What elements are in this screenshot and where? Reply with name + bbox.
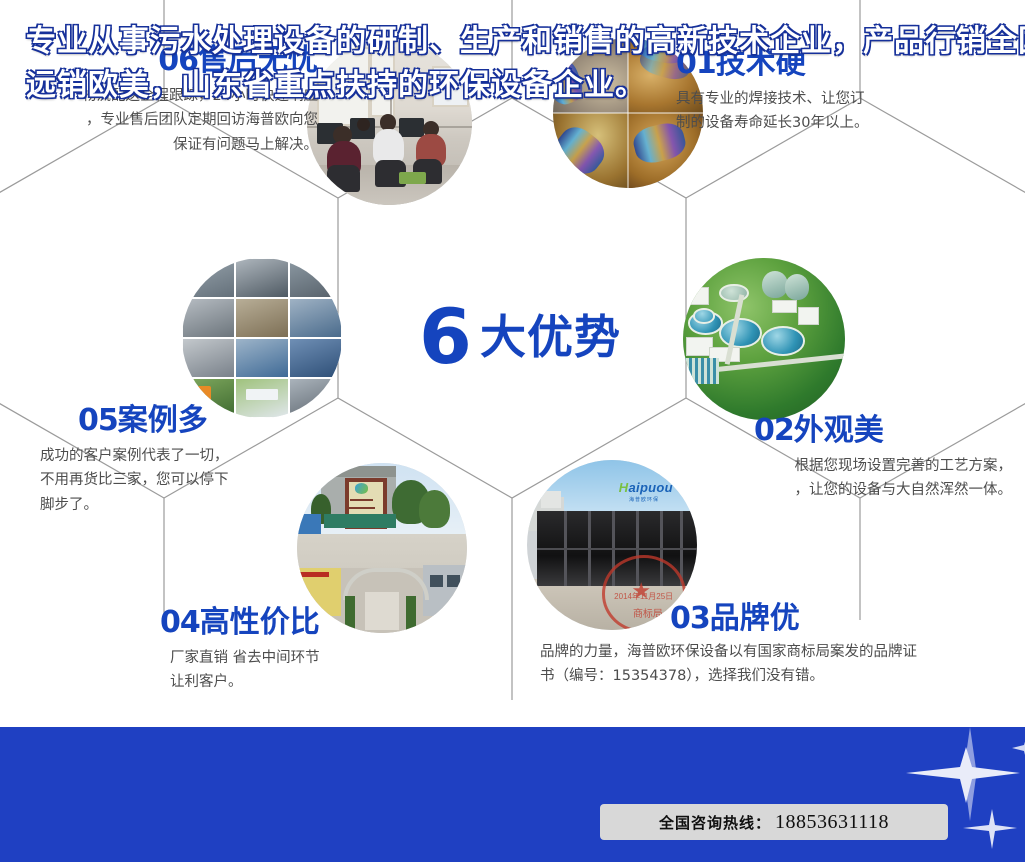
feature-02-title: 02外观美 — [692, 415, 1012, 447]
feature-03-desc: 品牌的力量，海普欧环保设备以有国家商标局案发的品牌证 书（编号：15354378… — [540, 640, 1020, 690]
feature-04-desc-line-2: 让利客户。 — [170, 670, 460, 695]
feature-03-label: 品牌优 — [710, 602, 800, 635]
feature-05-desc-line-1: 成功的客户案例代表了一切， — [40, 444, 310, 469]
center-number: 6 — [419, 299, 471, 375]
infographic-root: Haipuou 海普欧环保 ★ 2014年11月25日 商标局 6 大优势 06… — [0, 0, 1025, 862]
bottom-banner — [0, 727, 1025, 862]
feature-02: 02外观美 根据您现场设置完善的工艺方案， ，让您的设备与大自然浑然一体。 — [692, 415, 1012, 503]
feature-02-desc-line-1: 根据您现场设置完善的工艺方案， — [692, 454, 1012, 479]
feature-01-desc-line-2: 制的设备寿命延长30年以上。 — [676, 111, 1006, 136]
feature-03-title: 03品牌优 — [540, 603, 1020, 635]
feature-03-desc-line-1: 品牌的力量，海普欧环保设备以有国家商标局案发的品牌证 — [540, 640, 1020, 665]
product-brand-logo: Haipuou — [619, 480, 673, 495]
feature-06-desc-line-2: ，专业售后团队定期回访海普欧向您 — [18, 108, 318, 133]
stamp-date: 2014年11月25日 — [614, 591, 673, 602]
feature-04-title: 04高性价比 — [160, 607, 460, 639]
banner-slogan-line-1: 专业从事污水处理设备的研制、生产和销售的高新技术企业，产品行销全国并 — [26, 20, 726, 64]
hotline-number: 18853631118 — [775, 811, 889, 834]
feature-03: 03品牌优 品牌的力量，海普欧环保设备以有国家商标局案发的品牌证 书（编号：15… — [540, 603, 1020, 689]
feature-03-desc-line-2: 书（编号：15354378），选择我们没有错。 — [540, 664, 1020, 689]
hotline-box[interactable]: 全国咨询热线： 18853631118 — [600, 804, 948, 840]
brand-name: aipuou — [629, 480, 673, 495]
aerial-treatment-plant-photo — [683, 258, 845, 420]
feature-04-desc-line-1: 厂家直销 省去中间环节 — [170, 646, 460, 671]
banner-slogan-line-2: 远销欧美，山东省重点扶持的环保设备企业。 — [26, 64, 726, 108]
case-collage-photo — [182, 258, 342, 418]
feature-02-desc-line-2: ，让您的设备与大自然浑然一体。 — [692, 478, 1012, 503]
feature-05-label: 案例多 — [118, 404, 208, 437]
feature-05-desc-line-3: 脚步了。 — [40, 493, 310, 518]
hotline-label: 全国咨询热线： — [659, 812, 771, 833]
feature-02-desc: 根据您现场设置完善的工艺方案， ，让您的设备与大自然浑然一体。 — [692, 454, 1012, 504]
center-title: 6 大优势 — [390, 292, 650, 382]
feature-04-number: 04 — [160, 605, 200, 640]
feature-02-number: 02 — [754, 413, 794, 448]
feature-05: 05案例多 成功的客户案例代表了一切， 不用再货比三家，您可以停下 脚步了。 — [40, 405, 310, 518]
center-text: 大优势 — [480, 314, 621, 360]
feature-05-desc: 成功的客户案例代表了一切， 不用再货比三家，您可以停下 脚步了。 — [40, 444, 310, 519]
sparkle-small-icon — [955, 797, 1025, 857]
brand-initial: H — [619, 480, 629, 495]
feature-06-desc-line-3: 保证有问题马上解决。 — [18, 133, 318, 158]
feature-03-number: 03 — [670, 601, 710, 636]
feature-04-desc: 厂家直销 省去中间环节 让利客户。 — [160, 646, 460, 696]
feature-05-title: 05案例多 — [40, 405, 310, 437]
banner-slogan: 专业从事污水处理设备的研制、生产和销售的高新技术企业，产品行销全国并 远销欧美，… — [26, 20, 726, 108]
brand-subtitle: 海普欧环保 — [629, 496, 659, 503]
feature-05-number: 05 — [78, 403, 118, 438]
feature-05-desc-line-2: 不用再货比三家，您可以停下 — [40, 468, 310, 493]
feature-02-label: 外观美 — [794, 414, 884, 447]
feature-04-label: 高性价比 — [200, 606, 320, 639]
feature-04: 04高性价比 厂家直销 省去中间环节 让利客户。 — [160, 607, 460, 695]
